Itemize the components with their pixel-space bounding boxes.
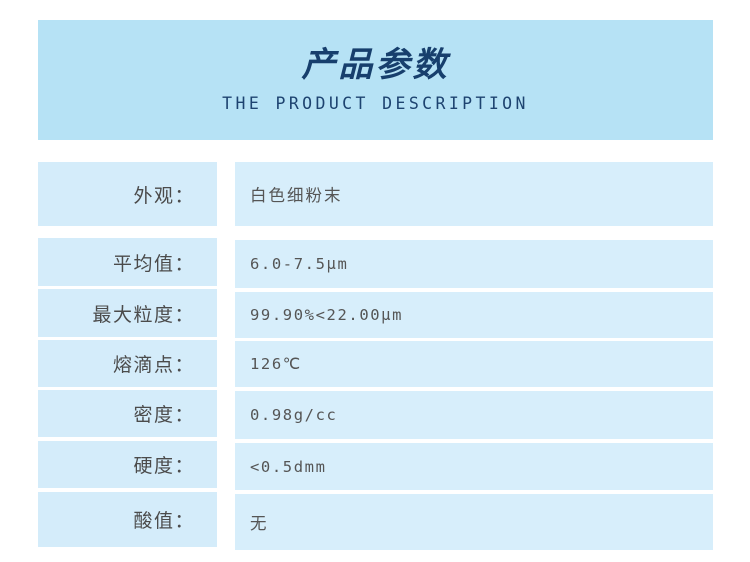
spec-value-cell: <0.5dmm — [235, 443, 713, 490]
spec-value-cell: 无 — [235, 494, 713, 550]
spec-value-cell: 99.90%<22.00μm — [235, 292, 713, 338]
spec-label-cell: 酸值： — [38, 492, 217, 547]
spec-label-cell: 外观： — [38, 162, 217, 226]
spec-label-cell: 最大粒度： — [38, 289, 217, 337]
product-description-page: 产品参数 THE PRODUCT DESCRIPTION 外观：白色细粉末平均值… — [0, 0, 750, 562]
spec-label-cell: 密度： — [38, 390, 217, 437]
spec-value-cell: 0.98g/cc — [235, 391, 713, 439]
spec-value-cell: 126℃ — [235, 341, 713, 387]
spec-value-cell: 白色细粉末 — [235, 162, 713, 226]
spec-label-cell: 硬度： — [38, 441, 217, 488]
spec-value-cell: 6.0-7.5μm — [235, 240, 713, 288]
spec-label-cell: 熔滴点： — [38, 340, 217, 387]
spec-table: 外观：白色细粉末平均值：6.0-7.5μm最大粒度：99.90%<22.00μm… — [0, 0, 750, 562]
spec-label-cell: 平均值： — [38, 238, 217, 286]
